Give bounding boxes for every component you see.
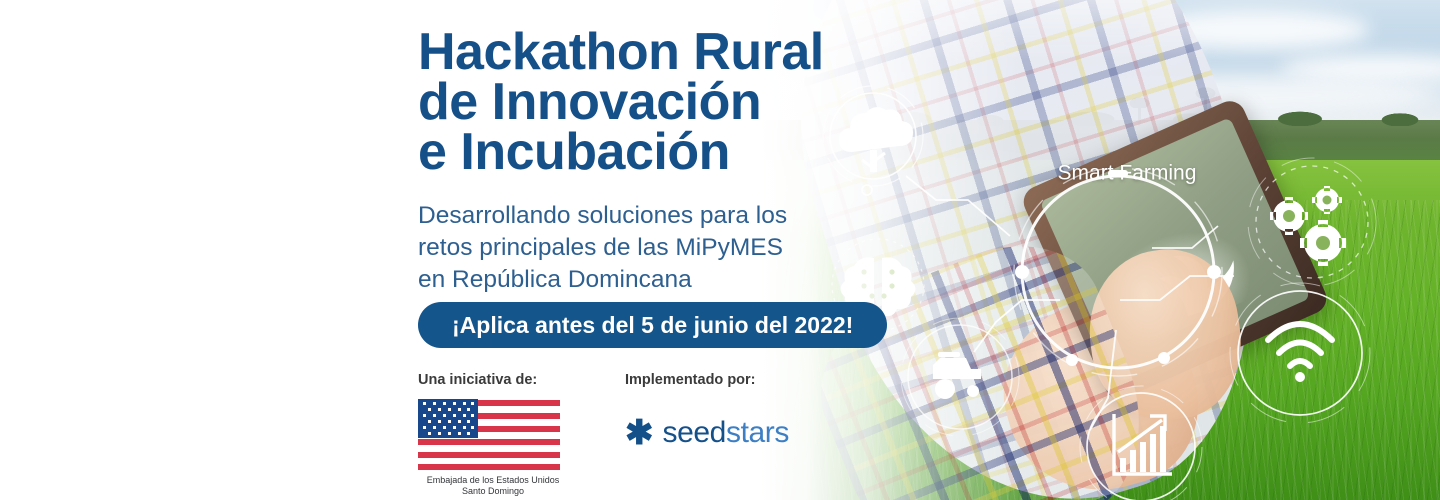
tablet-hud-ring bbox=[1014, 168, 1222, 376]
implementer-credit: Implementado por: ✱ seedstars bbox=[625, 372, 789, 448]
banner-content: Hackathon Rural de Innovación e Incubaci… bbox=[0, 0, 960, 500]
gears-icon bbox=[1248, 158, 1376, 286]
apply-cta-button[interactable]: ¡Aplica antes del 5 de junio del 2022! bbox=[418, 302, 887, 348]
seedstars-wordmark-first: seed bbox=[663, 416, 726, 449]
hackathon-promo-banner: Smart Farming bbox=[0, 0, 1440, 500]
page-subtitle: Desarrollando soluciones para los retos … bbox=[418, 200, 888, 296]
title-line-3: e Incubación bbox=[418, 127, 938, 177]
embassy-caption: Embajada de los Estados Unidos Santo Dom… bbox=[418, 475, 568, 497]
subtitle-line-1: Desarrollando soluciones para los bbox=[418, 200, 888, 232]
wifi-icon bbox=[1230, 283, 1370, 423]
initiative-heading: Una iniciativa de: bbox=[418, 372, 568, 388]
initiative-credit: Una iniciativa de: bbox=[418, 372, 568, 497]
title-line-2: de Innovación bbox=[418, 77, 938, 127]
seedstars-wordmark-second: stars bbox=[726, 416, 789, 449]
page-title: Hackathon Rural de Innovación e Incubaci… bbox=[418, 27, 938, 177]
seedstars-wordmark: seedstars bbox=[663, 418, 789, 448]
embassy-caption-line-2: Santo Domingo bbox=[418, 486, 568, 497]
implementer-heading: Implementado por: bbox=[625, 372, 789, 388]
title-line-1: Hackathon Rural bbox=[418, 27, 938, 77]
subtitle-line-2: retos principales de las MiPyMES bbox=[418, 232, 888, 264]
bar-chart-growth-icon bbox=[1080, 386, 1202, 500]
asterisk-icon: ✱ bbox=[625, 419, 654, 447]
embassy-caption-line-1: Embajada de los Estados Unidos bbox=[418, 475, 568, 486]
subtitle-line-3: en República Domincana bbox=[418, 264, 888, 296]
us-embassy-flag-logo bbox=[418, 398, 560, 472]
seedstars-logo[interactable]: ✱ seedstars bbox=[625, 418, 789, 448]
